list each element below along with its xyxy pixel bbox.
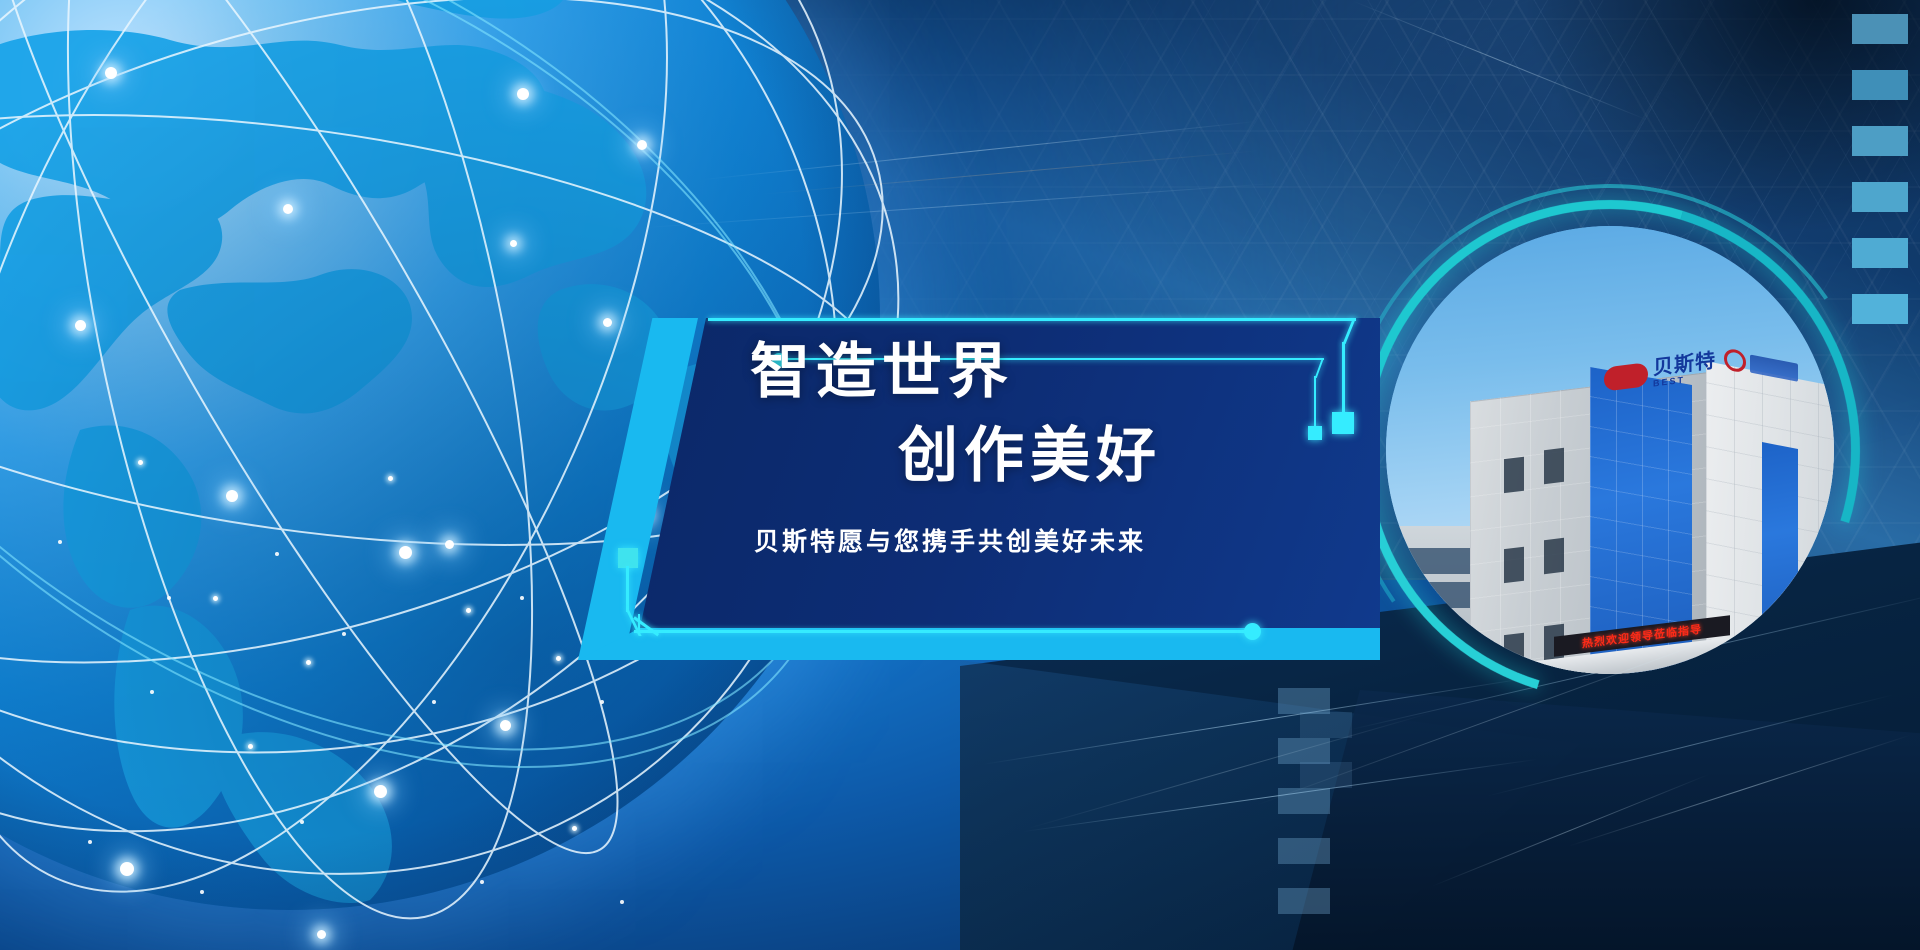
dash-mark: [1278, 888, 1330, 914]
logo-wordmark: [1750, 354, 1798, 381]
headquarters-photo: 贝斯特 BEST 热烈欢迎领导莅临指导: [1386, 226, 1834, 674]
network-node: [75, 320, 86, 331]
headline-subtitle: 贝斯特愿与您携手共创美好未来: [754, 522, 1350, 558]
network-node: [374, 785, 387, 798]
right-edge-dash-column: [1852, 14, 1908, 350]
hero-banner-stage: 贝斯特 BEST 热烈欢迎领导莅临指导: [0, 0, 1920, 950]
network-node: [445, 540, 454, 549]
network-node: [399, 546, 412, 559]
network-node-tiny: [167, 596, 171, 600]
headline-banner: 智造世界 创作美好 贝斯特愿与您携手共创美好未来: [640, 318, 1380, 660]
network-node-tiny: [200, 890, 204, 894]
network-node-tiny: [520, 596, 524, 600]
dash-mark: [1300, 712, 1352, 738]
circuit-line-bottom: [634, 630, 1254, 633]
dash-mark: [1852, 126, 1908, 156]
network-node-small: [466, 608, 471, 613]
circuit-line-left-drop: [626, 566, 629, 612]
circuit-endpoint-dot-bottom: [1244, 623, 1261, 640]
logo-mark-icon: [1724, 347, 1746, 373]
network-node-tiny: [342, 632, 346, 636]
network-node: [283, 204, 293, 214]
dash-mark: [1852, 14, 1908, 44]
window: [1504, 457, 1524, 493]
circuit-line-top: [708, 318, 1356, 321]
network-node-tiny: [300, 820, 304, 824]
network-node-small: [213, 596, 218, 601]
network-node: [517, 88, 529, 100]
dash-mark: [1852, 238, 1908, 268]
window: [1504, 547, 1524, 583]
network-node-tiny: [150, 690, 154, 694]
network-node: [120, 862, 134, 876]
side-window: [1404, 626, 1444, 670]
window: [1544, 448, 1564, 484]
dash-mark: [1278, 838, 1330, 864]
dash-mark: [1278, 688, 1330, 714]
circular-photo-module: 贝斯特 BEST 热烈欢迎领导莅临指导: [1360, 200, 1860, 700]
dash-mark: [1852, 182, 1908, 212]
network-node-small: [572, 826, 577, 831]
network-node-small: [306, 660, 311, 665]
network-node: [226, 490, 238, 502]
sign-logo-badge: [1604, 362, 1648, 391]
window: [1504, 633, 1524, 669]
network-node-tiny: [432, 700, 436, 704]
network-node-small: [388, 476, 393, 481]
mid-dash-column-shadow: [1300, 712, 1352, 812]
network-node-tiny: [58, 540, 62, 544]
narrow-glass-strip: [1762, 442, 1798, 669]
circuit-marker-left-square: [618, 548, 638, 568]
network-node: [317, 930, 326, 939]
network-node-tiny: [620, 900, 624, 904]
network-node: [603, 318, 612, 327]
network-node-tiny: [480, 880, 484, 884]
network-node-tiny: [275, 552, 279, 556]
dash-mark: [1852, 294, 1908, 324]
headline-text-block: 智造世界 创作美好 贝斯特愿与您携手共创美好未来: [750, 342, 1350, 558]
network-node-tiny: [88, 840, 92, 844]
network-node-tiny: [600, 700, 604, 704]
network-node-small: [138, 460, 143, 465]
window: [1544, 538, 1564, 574]
network-node: [500, 720, 511, 731]
network-node: [637, 140, 647, 150]
network-node: [510, 240, 517, 247]
headline-line-1: 智造世界: [750, 342, 1350, 402]
network-node: [105, 67, 117, 79]
network-node-small: [556, 656, 561, 661]
headline-line-2: 创作美好: [898, 426, 1350, 486]
dash-mark: [1300, 762, 1352, 788]
network-node-small: [248, 744, 253, 749]
dash-mark: [1852, 70, 1908, 100]
